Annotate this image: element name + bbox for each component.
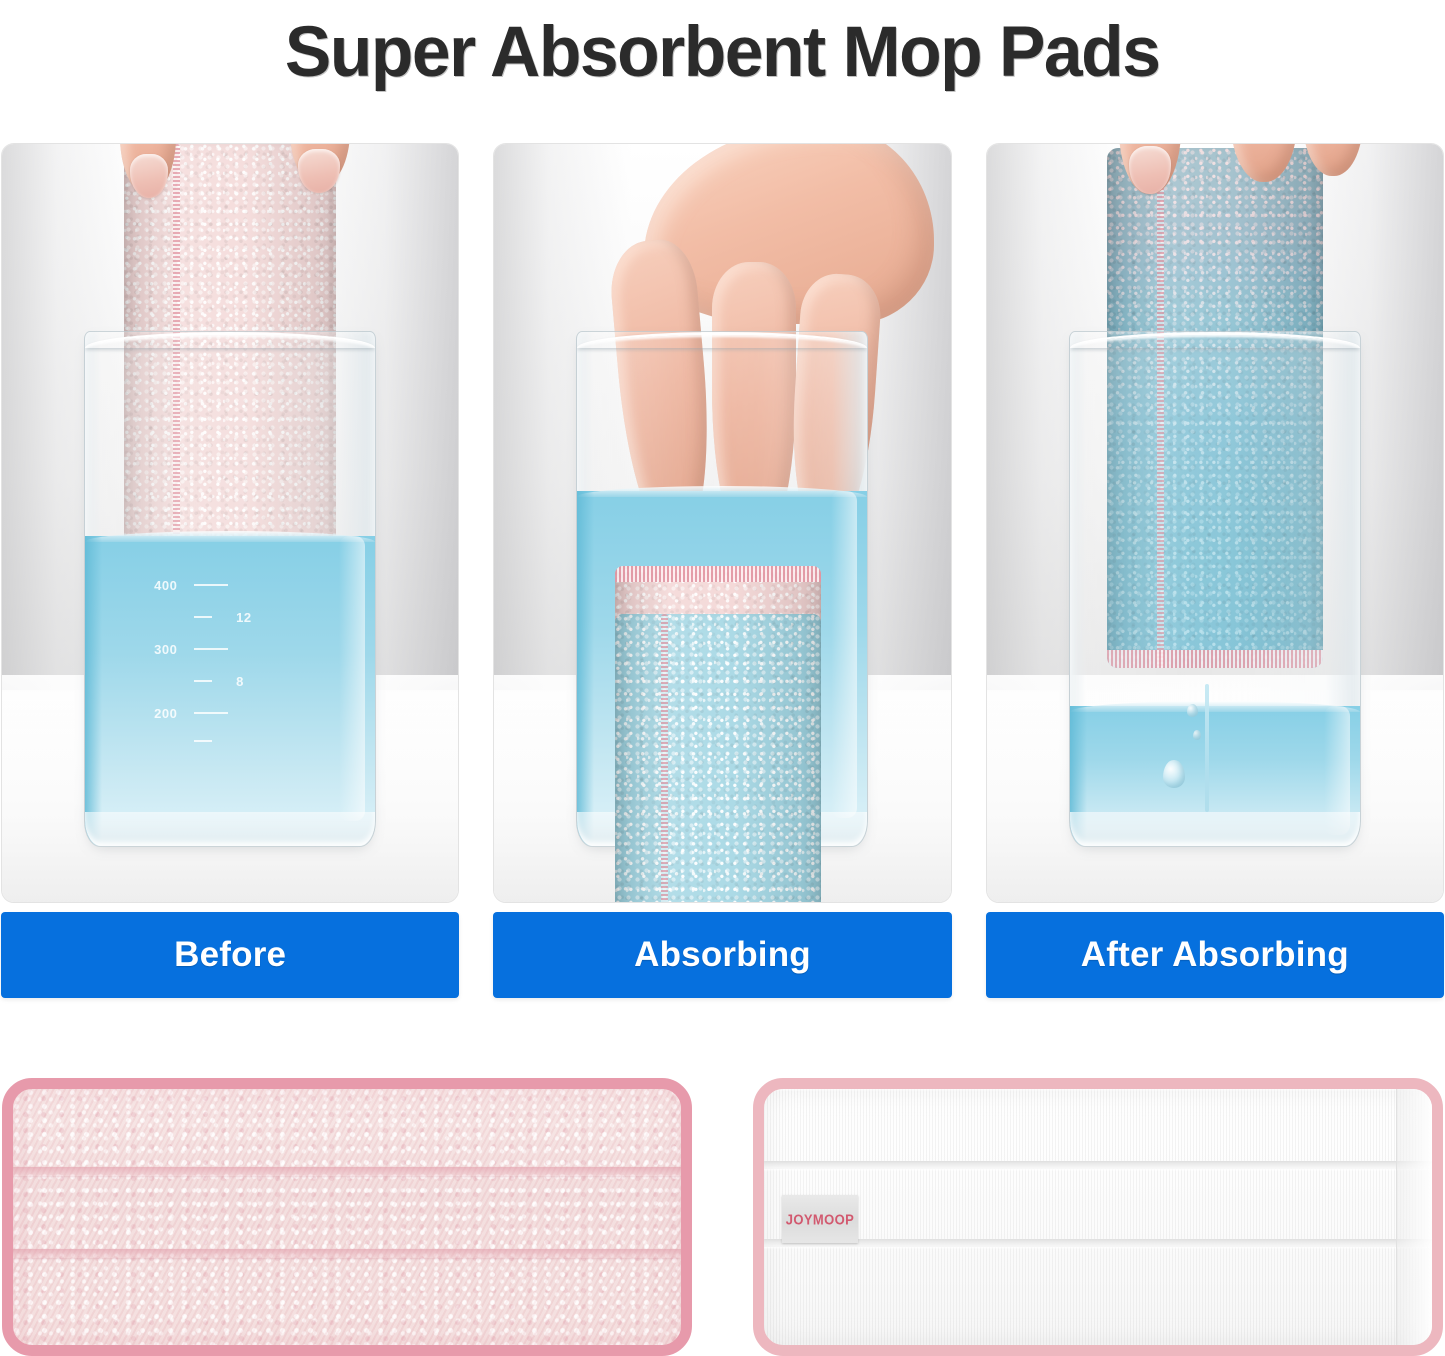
pad-stitch-line	[764, 1239, 1432, 1247]
cup-base	[1070, 812, 1360, 846]
caption-absorbing: Absorbing	[493, 912, 951, 998]
cup-rim	[577, 332, 867, 348]
drip-stream	[1205, 684, 1209, 812]
liquid-highlight	[339, 536, 365, 821]
mark-300ml	[194, 648, 228, 650]
mop-pad-pink-side	[2, 1078, 692, 1356]
mark-label-200: 200	[154, 707, 177, 720]
pad-stitch-line	[13, 1249, 681, 1258]
mark-minor	[194, 740, 212, 742]
mop-pad-white-side: JOYMOOP	[753, 1078, 1443, 1356]
photo-absorbing	[493, 143, 951, 903]
photo-before: 400 12 300 8 200	[1, 143, 459, 903]
caption-after-absorbing: After Absorbing	[986, 912, 1444, 998]
brand-tag-label: JOYMOOP	[786, 1211, 855, 1228]
water-droplet	[1193, 730, 1201, 740]
water-droplet	[1187, 704, 1198, 717]
cup-base	[85, 812, 375, 846]
mop-pad-absorbing-blue	[615, 614, 821, 903]
caption-label: Before	[174, 935, 286, 975]
mark-label-400: 400	[154, 579, 177, 592]
liquid-highlight	[831, 491, 857, 818]
microfiber-weave-texture	[13, 1089, 681, 1345]
velcro-strip	[764, 1089, 1432, 1161]
cup-rim	[85, 332, 375, 348]
water-droplet	[1163, 760, 1185, 788]
caption-label: Absorbing	[634, 935, 811, 975]
product-showcase-row: JOYMOOP	[0, 1078, 1445, 1356]
mark-label-300: 300	[154, 643, 177, 656]
brand-tag: JOYMOOP	[782, 1195, 858, 1243]
demo-panel-absorbing: Absorbing	[493, 143, 951, 998]
velcro-strip	[764, 1169, 1432, 1239]
photo-after-absorbing	[986, 143, 1444, 903]
pad-top-hem	[615, 566, 821, 582]
mark-label-8: 8	[236, 675, 244, 688]
mark-400ml	[194, 584, 228, 586]
header: Super Absorbent Mop Pads	[0, 0, 1445, 100]
pad-stitch-line	[13, 1167, 681, 1176]
pad-center-seam	[661, 614, 668, 903]
mark-12oz	[194, 616, 212, 618]
measuring-cup: 400 12 300 8 200	[84, 331, 376, 847]
page-title: Super Absorbent Mop Pads	[285, 12, 1159, 93]
liquid-level	[85, 536, 375, 846]
demo-panel-before: 400 12 300 8 200 Before	[1, 143, 459, 998]
demo-panel-after-absorbing: After Absorbing	[986, 143, 1444, 998]
demo-panel-row: 400 12 300 8 200 Before	[0, 143, 1445, 998]
mark-200ml	[194, 712, 228, 714]
pad-shading	[615, 614, 821, 903]
cup-rim	[1070, 332, 1360, 348]
velcro-strip	[764, 1247, 1432, 1345]
pad-stitch-line	[764, 1161, 1432, 1169]
mark-label-12: 12	[236, 611, 251, 624]
mark-8oz	[194, 680, 212, 682]
measuring-cup	[1069, 331, 1361, 847]
caption-before: Before	[1, 912, 459, 998]
pad-side-flap	[1396, 1089, 1432, 1345]
caption-label: After Absorbing	[1081, 935, 1349, 975]
